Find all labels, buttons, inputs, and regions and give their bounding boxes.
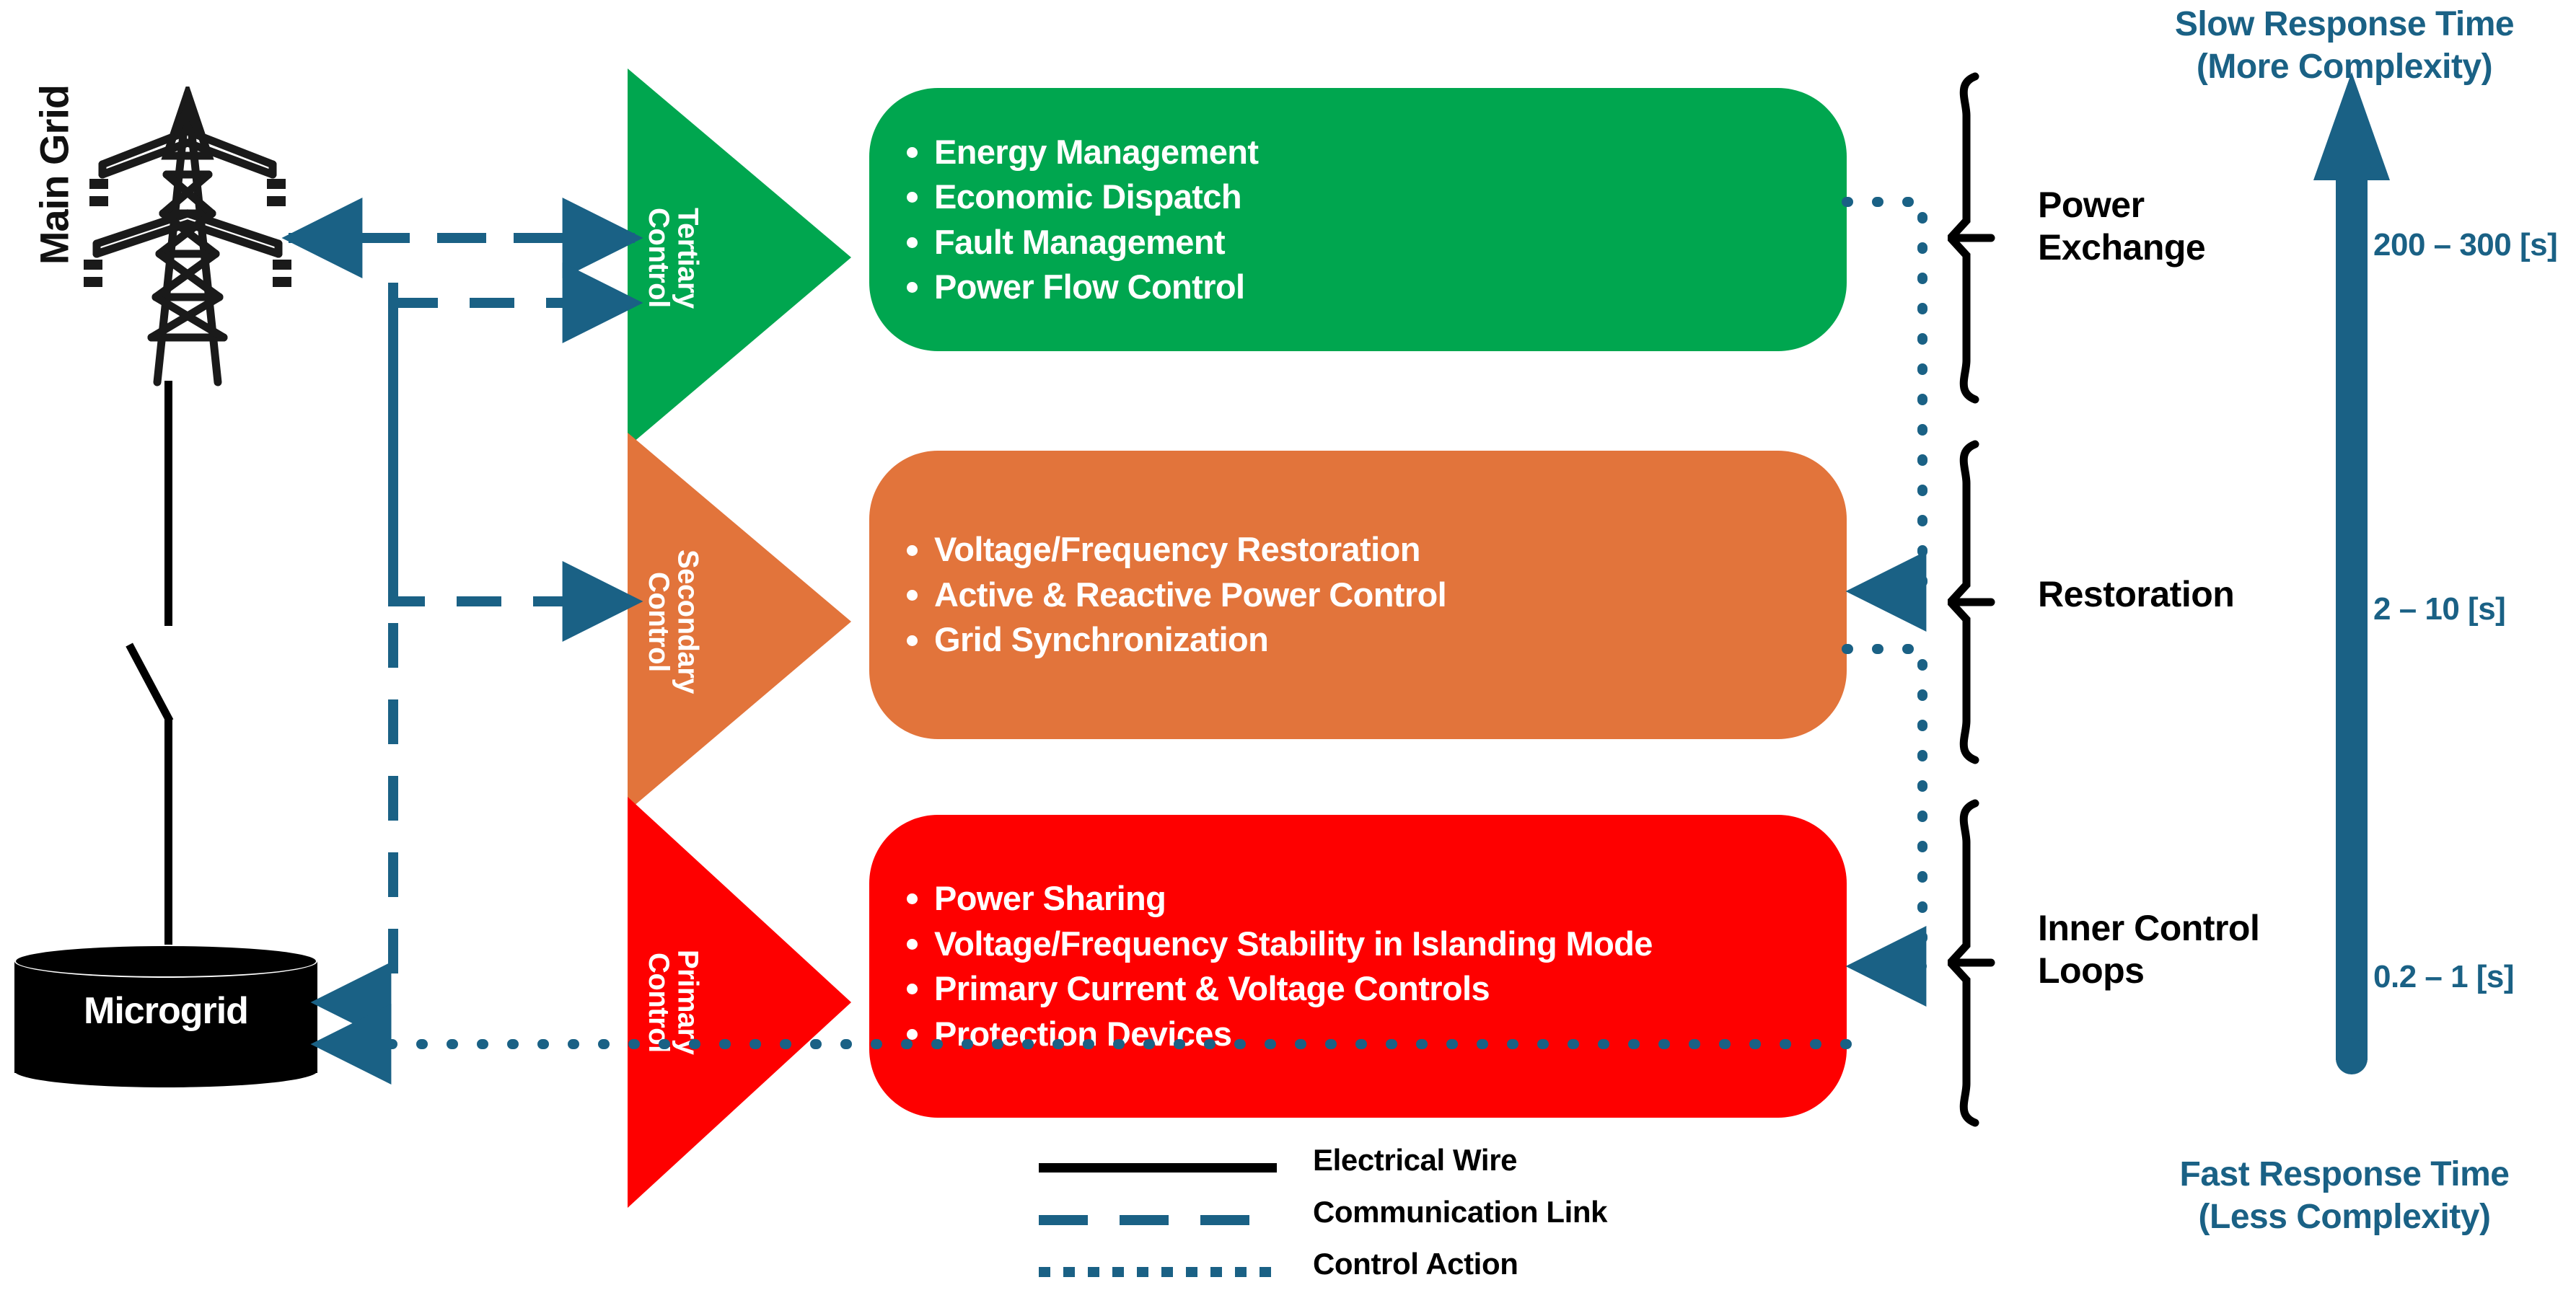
electrical-wire-lower	[164, 717, 172, 966]
brace-label-inner-control-loops: Inner Control Loops	[2038, 907, 2283, 992]
panel-primary[interactable]: Power Sharing Voltage/Frequency Stabilit…	[869, 815, 1847, 1118]
tertiary-triangle-line2: Control	[643, 208, 674, 308]
response-time-tertiary: 200 – 300 [s]	[2373, 227, 2557, 263]
control-action-tertiary-secondary	[1847, 202, 1922, 591]
brace-label-line1: Restoration	[2038, 573, 2283, 616]
legend-item-control-action: Control Action	[1039, 1247, 1760, 1299]
list-item: Active & Reactive Power Control	[904, 573, 1818, 618]
brace-inner-control-loops	[1948, 799, 2023, 1127]
layer-triangle-primary[interactable]: Primary Control	[628, 797, 851, 1208]
legend-swatch-dashed-line	[1039, 1215, 1277, 1225]
primary-triangle-line1: Primary	[672, 950, 704, 1054]
comm-link-primary-microgrid	[325, 317, 393, 1002]
tertiary-triangle-line1: Tertiary	[672, 208, 704, 309]
list-item: Voltage/Frequency Restoration	[904, 527, 1818, 573]
list-item: Power Sharing	[904, 876, 1818, 922]
brace-power-exchange	[1948, 72, 2023, 404]
axis-bottom-line1: Fast Response Time	[2114, 1154, 2575, 1196]
control-action-secondary-primary	[1847, 649, 1922, 966]
brace-restoration	[1948, 440, 2023, 764]
response-time-secondary: 2 – 10 [s]	[2373, 591, 2505, 627]
response-time-primary: 0.2 – 1 [s]	[2373, 959, 2514, 995]
axis-top-line2: (More Complexity)	[2114, 46, 2575, 89]
comm-link-grid-secondary	[393, 283, 629, 601]
list-item: Economic Dispatch	[904, 175, 1818, 220]
list-item: Protection Devices	[904, 1012, 1818, 1057]
brace-label-power-exchange: Power Exchange	[2038, 184, 2283, 269]
main-grid-label: Main Grid	[31, 71, 78, 280]
layer-triangle-tertiary[interactable]: Tertiary Control	[628, 69, 851, 447]
legend-label: Communication Link	[1313, 1195, 1607, 1229]
axis-bottom-label: Fast Response Time (Less Complexity)	[2114, 1154, 2575, 1238]
panel-secondary[interactable]: Voltage/Frequency Restoration Active & R…	[869, 451, 1847, 739]
primary-triangle-line2: Control	[643, 953, 674, 1053]
brace-label-line1: Inner Control	[2038, 907, 2283, 950]
legend-label: Electrical Wire	[1313, 1143, 1517, 1178]
list-item: Fault Management	[904, 220, 1818, 265]
axis-top-label: Slow Response Time (More Complexity)	[2114, 4, 2575, 88]
legend-label: Control Action	[1313, 1247, 1518, 1281]
secondary-triangle-line1: Secondary	[672, 549, 704, 694]
legend-item-electrical-wire: Electrical Wire	[1039, 1143, 1760, 1195]
electrical-wire-upper	[164, 381, 172, 626]
secondary-triangle-line2: Control	[643, 572, 674, 672]
layer-triangle-secondary[interactable]: Secondary Control	[628, 433, 851, 811]
legend-swatch-dotted-line	[1039, 1267, 1277, 1277]
brace-label-line1: Power	[2038, 184, 2283, 226]
list-item: Primary Current & Voltage Controls	[904, 966, 1818, 1012]
list-item: Voltage/Frequency Stability in Islanding…	[904, 922, 1818, 967]
brace-label-line2: Loops	[2038, 950, 2283, 992]
axis-bottom-line2: (Less Complexity)	[2114, 1196, 2575, 1239]
diagram-canvas: Main Grid	[0, 0, 2576, 1316]
microgrid-label: Microgrid	[14, 989, 317, 1033]
transmission-tower-icon	[72, 87, 303, 389]
brace-label-restoration: Restoration	[2038, 573, 2283, 616]
list-item: Energy Management	[904, 130, 1818, 175]
circuit-breaker-switch-icon	[126, 642, 173, 723]
panel-tertiary[interactable]: Energy Management Economic Dispatch Faul…	[869, 88, 1847, 351]
brace-label-line2: Exchange	[2038, 226, 2283, 269]
list-item: Power Flow Control	[904, 265, 1818, 310]
microgrid-cylinder: Microgrid	[14, 945, 317, 1089]
legend: Electrical Wire Communication Link Contr…	[1039, 1143, 1760, 1299]
legend-swatch-solid-line	[1039, 1163, 1277, 1173]
axis-top-line1: Slow Response Time	[2114, 4, 2575, 46]
legend-item-communication-link: Communication Link	[1039, 1195, 1760, 1247]
list-item: Grid Synchronization	[904, 617, 1818, 663]
response-time-axis-arrow	[2298, 72, 2406, 1074]
